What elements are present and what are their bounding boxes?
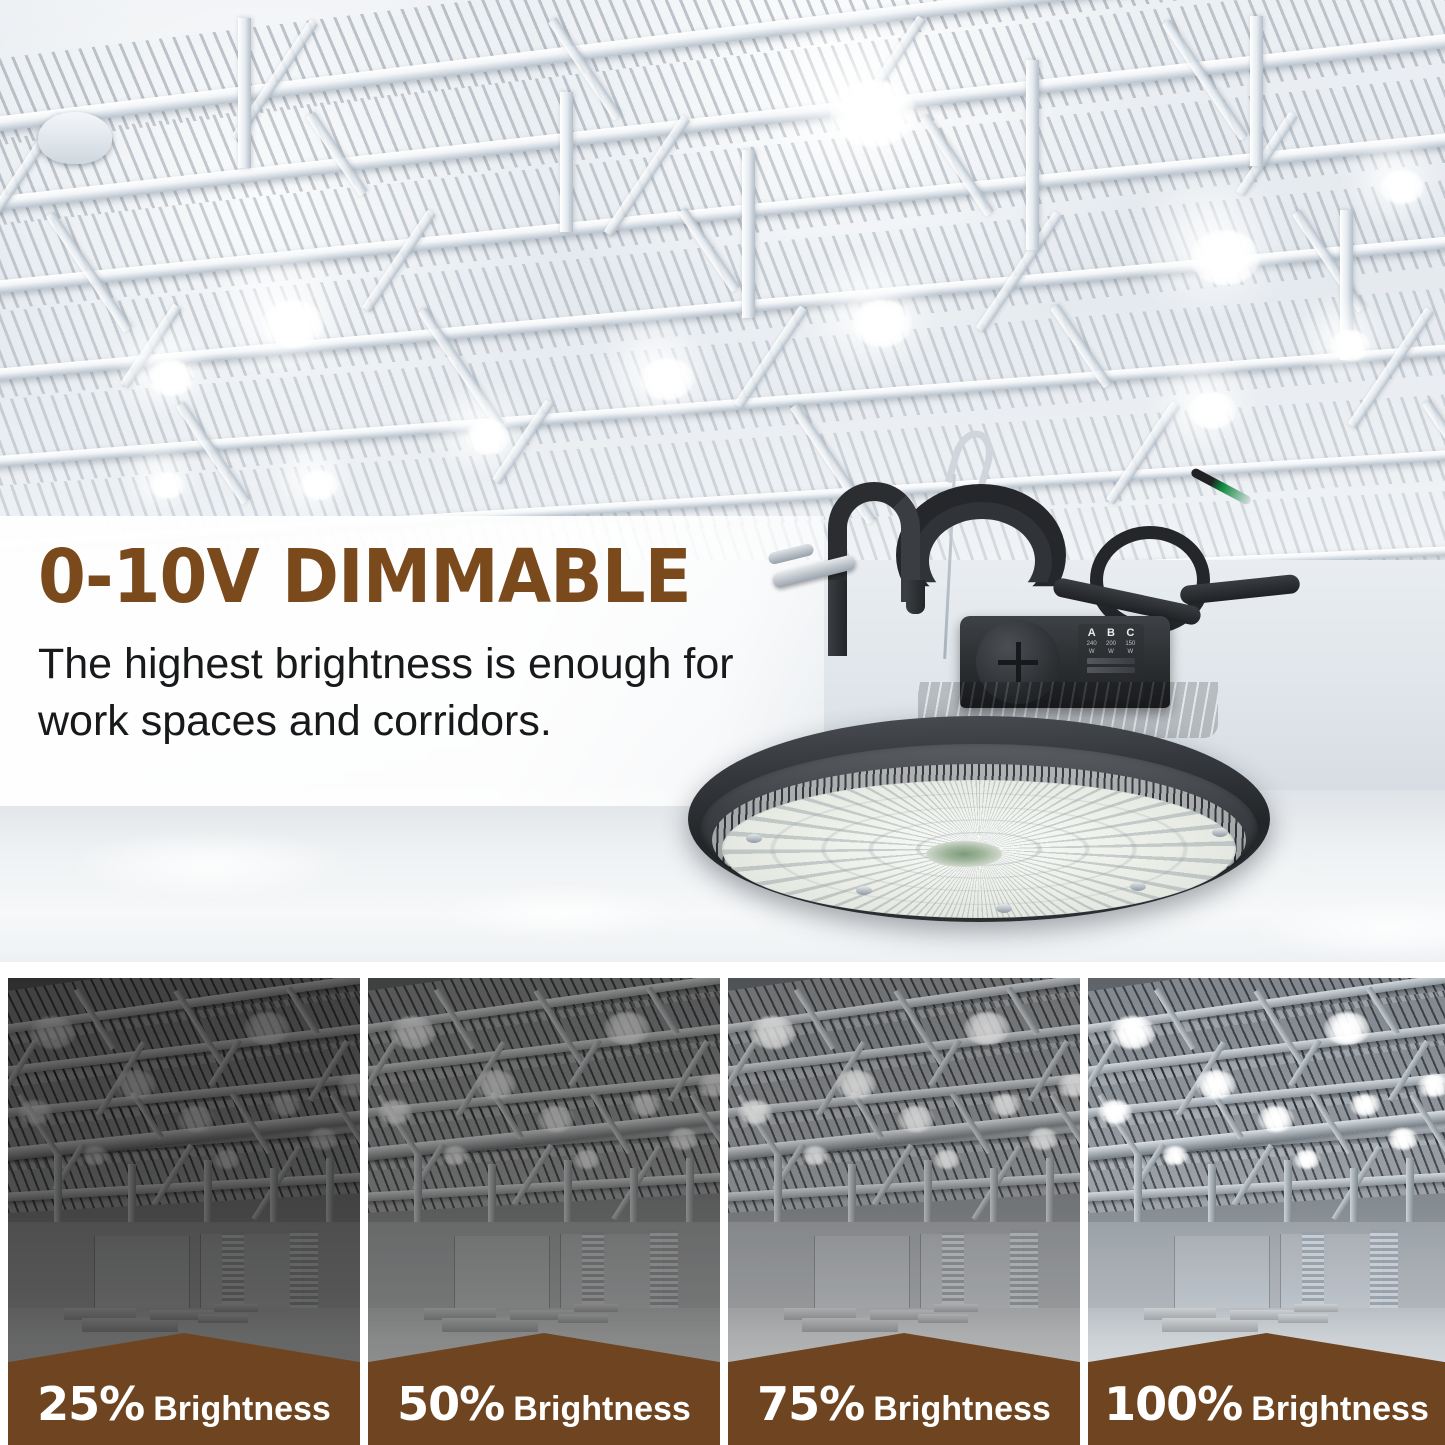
mini-ceiling-lamp [836, 1070, 876, 1099]
selector-letter-b: B [1107, 627, 1115, 639]
brightness-cell: 50%Brightness [368, 962, 720, 1445]
mini-warehouse-scene [368, 978, 720, 1382]
truss-post [238, 18, 251, 168]
mini-ceiling-lamp [964, 1012, 1010, 1045]
mini-ceiling-lamp [244, 1012, 290, 1045]
mini-ceiling-lamp [1028, 1128, 1058, 1150]
hook-cross-pin-secondary [767, 543, 815, 566]
ceiling-lamp [640, 358, 694, 400]
ground-wire [1190, 467, 1252, 506]
selector-switch-bar-1 [1087, 658, 1135, 664]
selector-unit-c: W [1127, 649, 1133, 655]
mini-shutter [290, 1230, 318, 1314]
mini-roll-door [200, 1234, 304, 1314]
mini-pallet-stack [442, 1318, 538, 1332]
mini-warehouse-scene [8, 978, 360, 1382]
mini-shutter [222, 1232, 244, 1314]
brightness-comparison-grid: 25%Brightness 50%Brightness [0, 962, 1445, 1445]
mini-ceiling-lamp [30, 1016, 76, 1049]
ceiling-lamp [300, 470, 338, 500]
truss-post [742, 150, 755, 318]
mini-roll-door [1174, 1236, 1270, 1314]
mounting-hook-stem [828, 580, 847, 656]
selector-letter-c: C [1126, 627, 1134, 639]
brightness-preview-image [1088, 978, 1445, 1382]
pendant-fixture [38, 112, 112, 164]
brightness-caption: 50%Brightness [368, 1377, 720, 1431]
mini-shutter [582, 1232, 604, 1314]
lens-clip-bottom-right [1130, 882, 1146, 891]
brightness-label: Brightness [873, 1390, 1051, 1428]
mini-ceiling-lamp [270, 1094, 300, 1116]
mini-ceiling-lamp [82, 1146, 108, 1165]
floor-reflection [60, 830, 360, 900]
mini-pallet-stack [802, 1318, 898, 1332]
brightness-percent: 100% [1104, 1377, 1242, 1431]
selector-letter-a: A [1088, 627, 1096, 639]
mini-roll-door [1280, 1234, 1384, 1314]
brightness-preview-image [368, 978, 720, 1382]
power-cable-loop-inner [912, 502, 1052, 620]
mini-pallet-stack [574, 1304, 618, 1312]
mounting-hook-tip [906, 580, 925, 614]
selector-wattage-row: 240 200 150 [1082, 641, 1140, 647]
mini-ceiling-lamp [1258, 1106, 1294, 1132]
selector-watt-a: 240 [1087, 641, 1097, 647]
ceiling-lamp [830, 80, 916, 147]
mini-warehouse-scene [1088, 978, 1445, 1382]
mini-ceiling-lamp [442, 1146, 468, 1165]
mini-shutter [650, 1230, 678, 1314]
truss-post [560, 92, 573, 232]
caption-band: 50%Brightness [368, 1333, 720, 1445]
mini-truss-post [414, 1154, 422, 1222]
brightness-percent: 50% [397, 1377, 504, 1431]
mini-ceiling-lamp [1110, 1016, 1156, 1049]
lens-center-module [926, 841, 1002, 867]
mini-truss-post [54, 1154, 62, 1222]
ceiling-lamp [148, 360, 194, 396]
mini-ceiling-lamp [898, 1106, 934, 1132]
mini-truss-post [1134, 1154, 1142, 1222]
mini-pallet-stack [82, 1318, 178, 1332]
brightness-preview-image [728, 978, 1080, 1382]
mini-shutter [1370, 1230, 1398, 1314]
truss-post [1250, 16, 1263, 166]
selector-unit-row: W W W [1082, 649, 1140, 655]
mini-truss-post [204, 1160, 212, 1228]
ceiling-lamp [1330, 330, 1370, 361]
brightness-caption: 75%Brightness [728, 1377, 1080, 1431]
brightness-cell: 100%Brightness [1088, 962, 1445, 1445]
brightness-label: Brightness [1251, 1390, 1429, 1428]
mini-ceiling-lamp [1196, 1070, 1236, 1099]
mini-shutter [1302, 1232, 1324, 1314]
mini-truss-post [1406, 1158, 1414, 1226]
mini-pallet-stack [558, 1314, 608, 1323]
selector-letters: A B C [1082, 627, 1140, 639]
brightness-cell: 75%Brightness [728, 962, 1080, 1445]
ceiling-lamp [150, 472, 184, 499]
mini-pallet-stack [1278, 1314, 1328, 1323]
mini-ceiling-lamp [1388, 1128, 1418, 1150]
selector-watt-b: 200 [1106, 641, 1116, 647]
mini-ceiling-lamp [178, 1106, 214, 1132]
mini-ceiling-lamp [1324, 1012, 1370, 1045]
mini-roll-door [560, 1234, 664, 1314]
ceiling-lamp [1190, 230, 1260, 285]
mini-ceiling-lamp [990, 1094, 1020, 1116]
selector-unit-a: W [1089, 649, 1095, 655]
mini-ceiling-lamp [604, 1012, 650, 1045]
lens-clip-right [1212, 828, 1228, 837]
brightness-caption: 100%Brightness [1088, 1377, 1445, 1431]
mini-ceiling-lamp [1418, 1074, 1445, 1097]
brightness-label: Brightness [153, 1390, 331, 1428]
mini-truss-post [774, 1154, 782, 1222]
mini-ceiling-lamp [116, 1070, 156, 1099]
hero-section: 0-10V DIMMABLE The highest brightness is… [0, 0, 1445, 962]
lens-clip-left [746, 834, 762, 843]
mini-ceiling-lamp [476, 1070, 516, 1099]
mini-ceiling-lamp [1294, 1150, 1320, 1169]
brightness-caption: 25%Brightness [8, 1377, 360, 1431]
ceiling-lamp [852, 300, 912, 347]
floor-reflection [430, 886, 690, 940]
mini-ceiling-lamp [630, 1094, 660, 1116]
mini-pallet-stack [934, 1304, 978, 1312]
truss-post [1026, 60, 1039, 250]
mini-ceiling-lamp [750, 1016, 796, 1049]
mini-pallet-stack [1294, 1304, 1338, 1312]
mini-truss-post [924, 1160, 932, 1228]
brightness-preview-image [8, 978, 360, 1382]
ceiling-lamp [1380, 170, 1424, 204]
mini-ceiling-lamp [538, 1106, 574, 1132]
mini-warehouse-scene [728, 978, 1080, 1382]
ceiling-lamp [262, 300, 324, 348]
selector-switch-bar-2 [1087, 667, 1135, 673]
mini-roll-door [454, 1236, 550, 1314]
mini-truss-post [564, 1160, 572, 1228]
mini-ceiling-lamp [934, 1150, 960, 1169]
caption-band: 75%Brightness [728, 1333, 1080, 1445]
mini-shutter [1010, 1230, 1038, 1314]
mini-shutter [942, 1232, 964, 1314]
mini-ceiling-lamp [390, 1016, 436, 1049]
mini-roll-door [920, 1234, 1024, 1314]
mini-roll-door [94, 1236, 190, 1314]
lens-clip-bottom [996, 904, 1012, 913]
mini-truss-post [1284, 1160, 1292, 1228]
selector-unit-b: W [1108, 649, 1114, 655]
mini-ceiling-lamp [802, 1146, 828, 1165]
ceiling-lamp [466, 420, 510, 454]
mini-truss-post [686, 1158, 694, 1226]
mini-pallet-stack [918, 1314, 968, 1323]
brightness-label: Brightness [513, 1390, 691, 1428]
mini-pallet-stack [1162, 1318, 1258, 1332]
brightness-cell: 25%Brightness [8, 962, 360, 1445]
mini-ceiling-lamp [1162, 1146, 1188, 1165]
lens-clip-bottom-left [856, 886, 872, 895]
mini-ceiling-lamp [574, 1150, 600, 1169]
mini-ceiling-lamp [668, 1128, 698, 1150]
product-infographic: 0-10V DIMMABLE The highest brightness is… [0, 0, 1445, 1445]
caption-band: 25%Brightness [8, 1333, 360, 1445]
selector-watt-c: 150 [1125, 641, 1135, 647]
mini-truss-post [326, 1158, 334, 1226]
mini-roll-door [814, 1236, 910, 1314]
mini-ceiling-lamp [214, 1150, 240, 1169]
mini-pallet-stack [214, 1304, 258, 1312]
led-lens-array [722, 780, 1236, 918]
mini-ceiling-lamp [1350, 1094, 1380, 1116]
led-high-bay-fixture: A B C 240 200 150 W W W [660, 430, 1300, 940]
mini-pallet-stack [198, 1314, 248, 1323]
brightness-percent: 25% [37, 1377, 144, 1431]
mini-truss-post [1046, 1158, 1054, 1226]
mini-ceiling-lamp [308, 1128, 338, 1150]
brightness-percent: 75% [757, 1377, 864, 1431]
caption-band: 100%Brightness [1088, 1333, 1445, 1445]
